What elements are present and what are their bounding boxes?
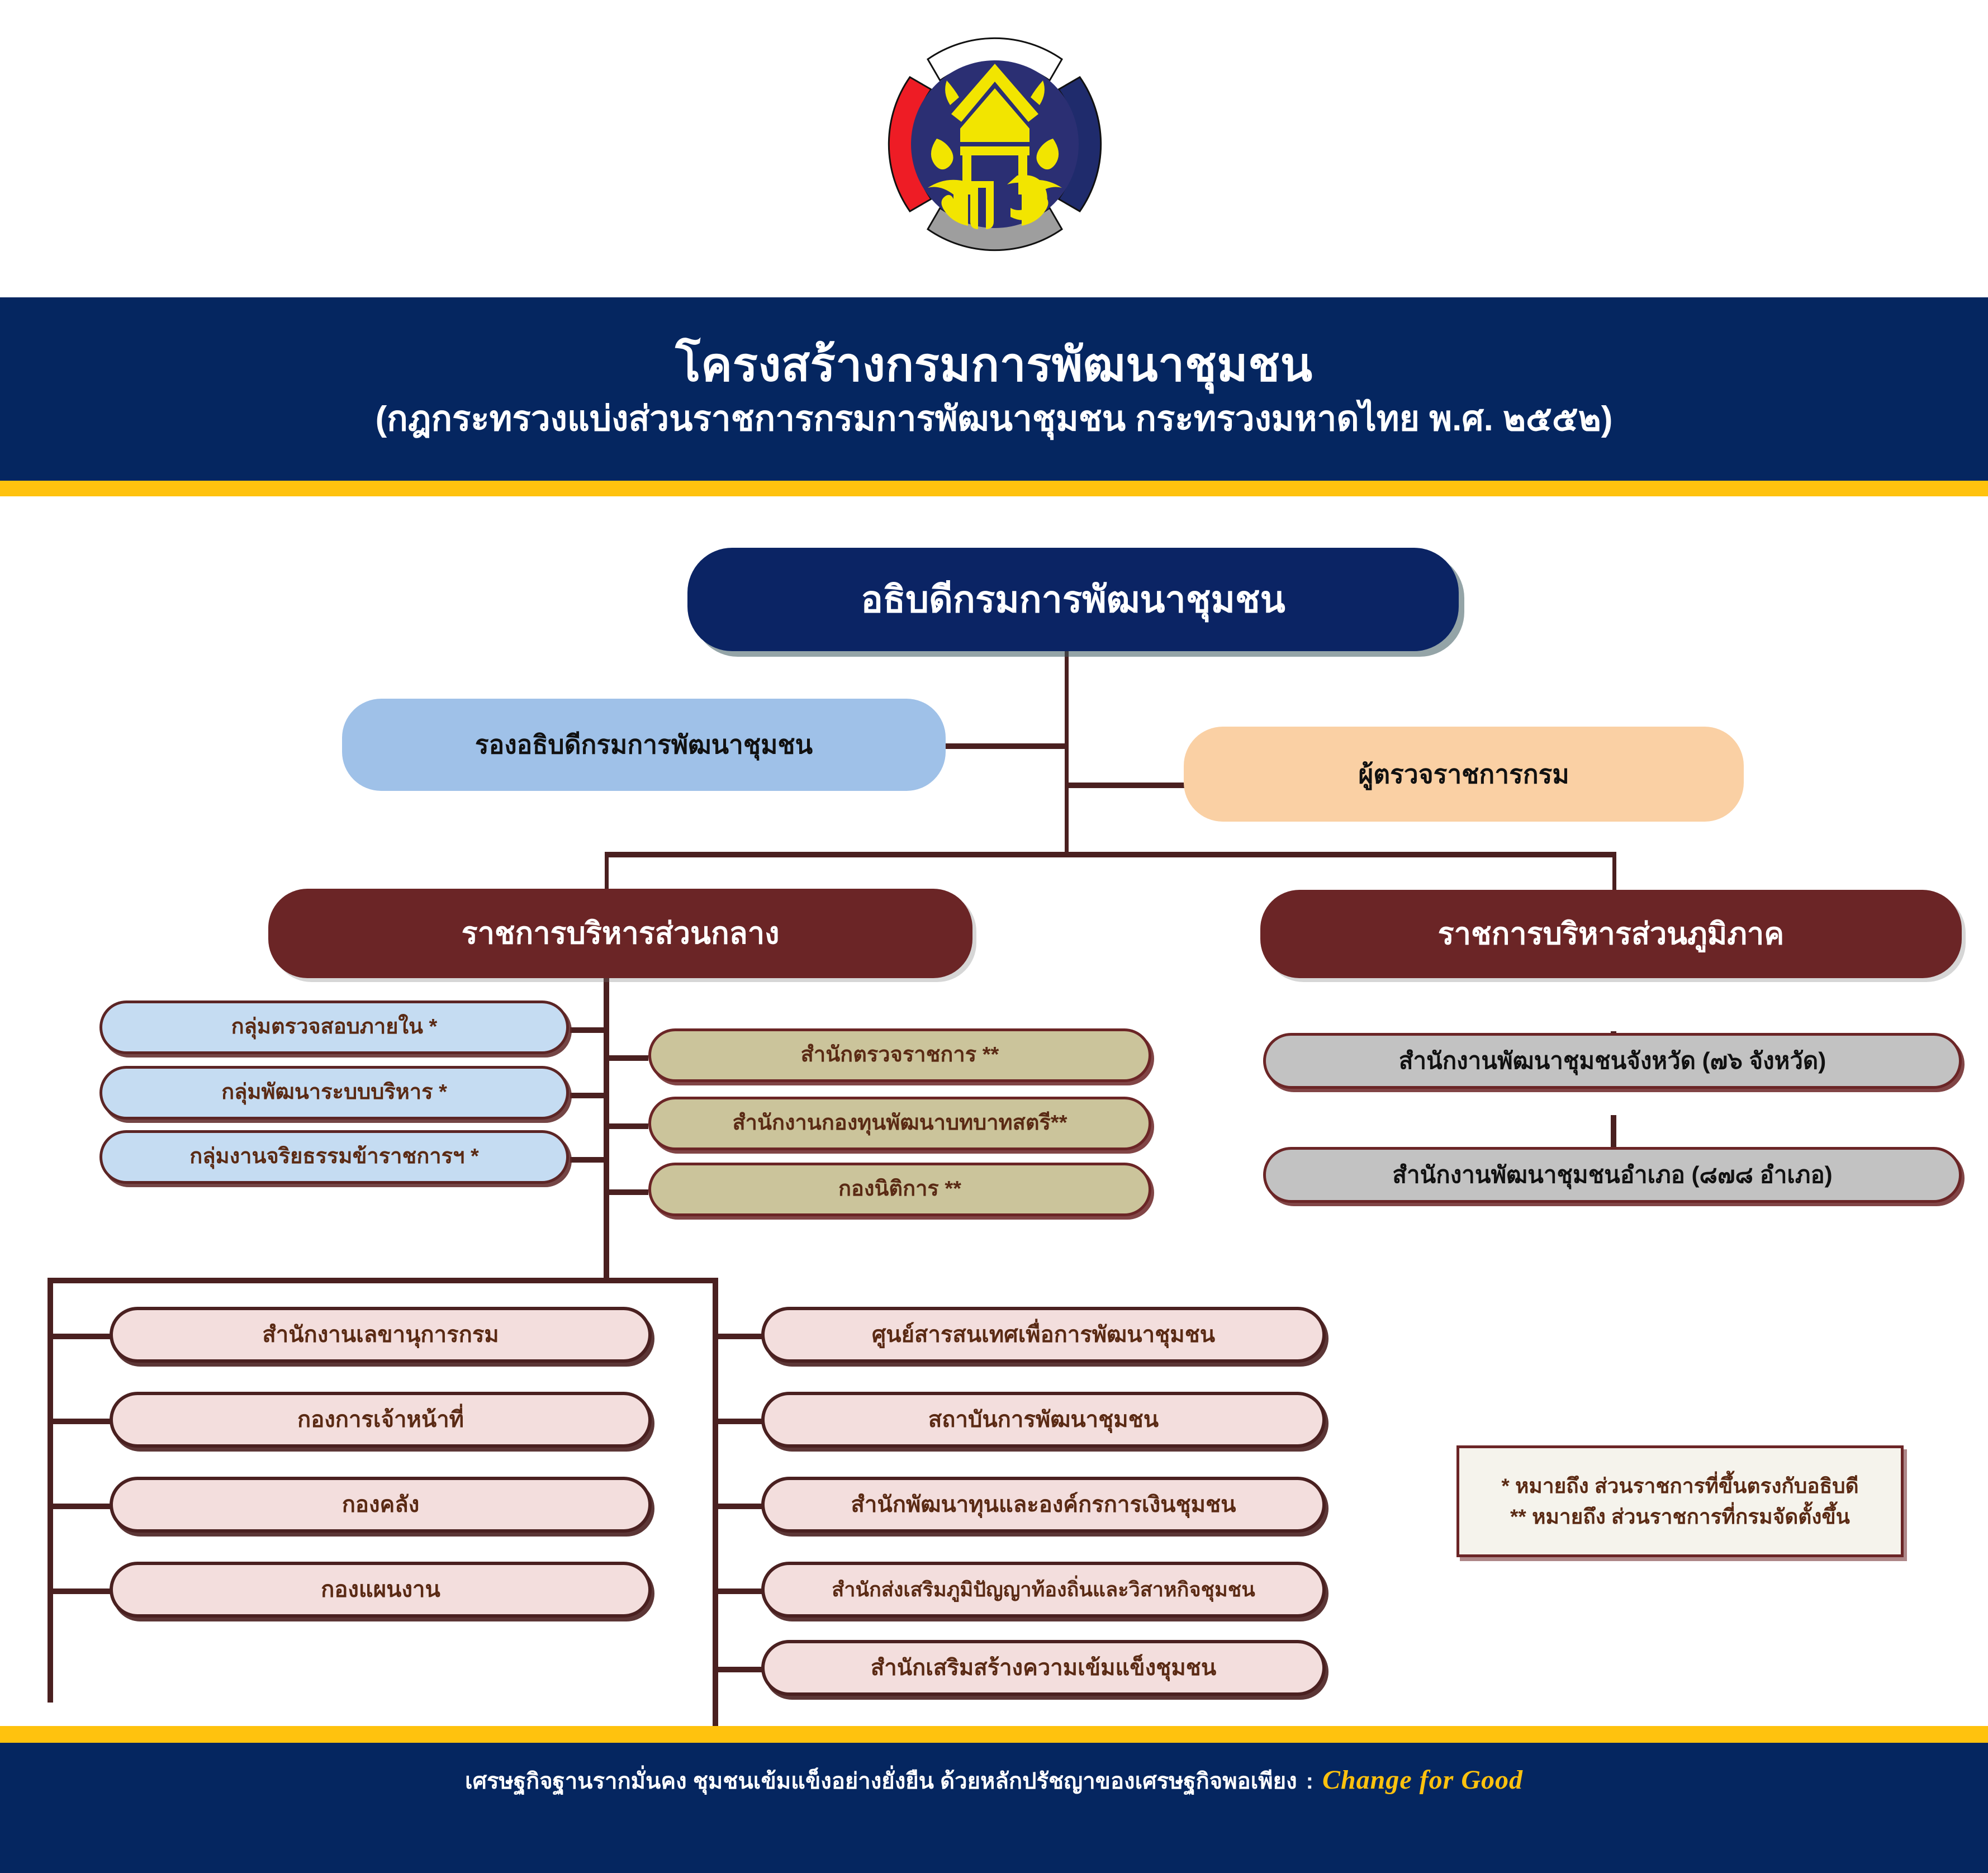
connector-stub-khaki-2 bbox=[604, 1123, 648, 1129]
node-label: กองคลัง bbox=[332, 1493, 430, 1516]
page-header-banner: โครงสร้างกรมการพัฒนาชุมชน (กฎกระทรวงแบ่ง… bbox=[0, 297, 1988, 481]
node-section-regional-administration[interactable]: ราชการบริหารส่วนภูมิภาค bbox=[1260, 890, 1962, 978]
node-community-strengthening-bureau[interactable]: สำนักเสริมสร้างความเข้มแข็งชุมชน bbox=[761, 1640, 1326, 1696]
node-department-inspector[interactable]: ผู้ตรวจราชการกรม bbox=[1184, 727, 1744, 822]
node-label: สำนักส่งเสริมภูมิปัญญาท้องถิ่นและวิสาหกิ… bbox=[822, 1579, 1265, 1600]
node-community-development-institute[interactable]: สถาบันการพัฒนาชุมชน bbox=[761, 1392, 1326, 1448]
node-local-wisdom-enterprise-bureau[interactable]: สำนักส่งเสริมภูมิปัญญาท้องถิ่นและวิสาหกิ… bbox=[761, 1562, 1326, 1618]
connector-stub-pinkL-4 bbox=[48, 1589, 115, 1594]
node-label: กองแผนงาน bbox=[311, 1578, 450, 1601]
node-label: สถาบันการพัฒนาชุมชน bbox=[918, 1408, 1169, 1431]
cdd-emblem-logo bbox=[861, 10, 1129, 278]
connector-central-rail bbox=[604, 975, 609, 1283]
node-label: กลุ่มตรวจสอบภายใน * bbox=[221, 1016, 448, 1039]
node-label: อธิบดีกรมการพัฒนาชุมชน bbox=[851, 580, 1296, 619]
connector-section-split bbox=[605, 852, 1616, 857]
node-provincial-cdd-office[interactable]: สำนักงานพัฒนาชุมชนจังหวัด (๗๖ จังหวัด) bbox=[1263, 1033, 1962, 1089]
node-finance-division[interactable]: กองคลัง bbox=[110, 1477, 652, 1533]
node-inspection-bureau[interactable]: สำนักตรวจราชการ ** bbox=[648, 1028, 1151, 1082]
node-label: กองนิติการ ** bbox=[828, 1178, 971, 1201]
node-label: กองการเจ้าหน้าที่ bbox=[287, 1408, 474, 1431]
node-district-cdd-office[interactable]: สำนักงานพัฒนาชุมชนอำเภอ (๘๗๘ อำเภอ) bbox=[1263, 1147, 1962, 1203]
legend-line-single-asterisk: * หมายถึง ส่วนราชการที่ขึ้นตรงกับอธิบดี bbox=[1501, 1471, 1858, 1502]
legend-box: * หมายถึง ส่วนราชการที่ขึ้นตรงกับอธิบดี … bbox=[1456, 1445, 1904, 1557]
page-subtitle: (กฎกระทรวงแบ่งส่วนราชการกรมการพัฒนาชุมชน… bbox=[376, 399, 1613, 440]
connector-stub-pinkR-4 bbox=[713, 1589, 766, 1594]
connector-stub-pinkL-2 bbox=[48, 1419, 115, 1424]
page-title: โครงสร้างกรมการพัฒนาชุมชน bbox=[675, 338, 1312, 391]
node-office-of-the-secretary[interactable]: สำนักงานเลขานุการกรม bbox=[110, 1307, 652, 1363]
node-label: สำนักตรวจราชการ ** bbox=[791, 1044, 1009, 1066]
node-director-general[interactable]: อธิบดีกรมการพัฒนาชุมชน bbox=[687, 548, 1459, 651]
connector-stub-blue-3 bbox=[570, 1157, 607, 1163]
connector-to-deputy bbox=[945, 743, 1067, 749]
node-planning-division[interactable]: กองแผนงาน bbox=[110, 1562, 652, 1618]
connector-bottom-left-rail bbox=[48, 1278, 53, 1703]
node-label: สำนักพัฒนาทุนและองค์กรการเงินชุมชน bbox=[841, 1493, 1246, 1516]
node-label: สำนักเสริมสร้างความเข้มแข็งชุมชน bbox=[861, 1656, 1226, 1680]
node-admin-system-development-group[interactable]: กลุ่มพัฒนาระบบบริหาร * bbox=[99, 1066, 569, 1120]
connector-stub-pinkR-2 bbox=[713, 1419, 766, 1424]
legend-line-double-asterisk: ** หมายถึง ส่วนราชการที่กรมจัดตั้งขึ้น bbox=[1510, 1501, 1850, 1533]
node-community-capital-finance-bureau[interactable]: สำนักพัฒนาทุนและองค์กรการเงินชุมชน bbox=[761, 1477, 1326, 1533]
footer-slogan: เศรษฐกิจฐานรากมั่นคง ชุมชนเข้มแข็งอย่างย… bbox=[465, 1763, 1297, 1799]
header-accent-bar bbox=[0, 481, 1988, 496]
node-label: สำนักงานพัฒนาชุมชนอำเภอ (๘๗๘ อำเภอ) bbox=[1382, 1163, 1842, 1187]
node-label: รองอธิบดีกรมการพัฒนาชุมชน bbox=[465, 731, 823, 758]
connector-stub-blue-1 bbox=[570, 1027, 607, 1033]
node-label: ราชการบริหารส่วนภูมิภาค bbox=[1428, 918, 1795, 950]
connector-stub-blue-2 bbox=[570, 1093, 607, 1098]
connector-down-to-sections bbox=[1065, 794, 1069, 855]
node-label: สำนักงานกองทุนพัฒนาบทบาทสตรี** bbox=[722, 1112, 1077, 1135]
node-community-development-information-center[interactable]: ศูนย์สารสนเทศเพื่อการพัฒนาชุมชน bbox=[761, 1307, 1326, 1363]
footer-separator: : bbox=[1306, 1769, 1313, 1794]
connector-to-inspector bbox=[1065, 783, 1188, 788]
org-chart-page: โครงสร้างกรมการพัฒนาชุมชน (กฎกระทรวงแบ่ง… bbox=[0, 0, 1988, 1873]
connector-stub-pinkR-3 bbox=[713, 1504, 766, 1509]
node-label: สำนักงานเลขานุการกรม bbox=[252, 1323, 509, 1346]
connector-root-down bbox=[1065, 648, 1069, 794]
node-deputy-director-general[interactable]: รองอธิบดีกรมการพัฒนาชุมชน bbox=[342, 699, 946, 791]
connector-stub-pinkL-3 bbox=[48, 1504, 115, 1509]
node-section-central-administration[interactable]: ราชการบริหารส่วนกลาง bbox=[268, 889, 972, 978]
node-label: ผู้ตรวจราชการกรม bbox=[1348, 761, 1579, 788]
connector-stub-pinkR-1 bbox=[713, 1334, 766, 1339]
node-label: ศูนย์สารสนเทศเพื่อการพัฒนาชุมชน bbox=[862, 1323, 1225, 1346]
node-internal-audit-group[interactable]: กลุ่มตรวจสอบภายใน * bbox=[99, 1000, 569, 1054]
node-legal-affairs-division[interactable]: กองนิติการ ** bbox=[648, 1163, 1151, 1216]
node-personnel-division[interactable]: กองการเจ้าหน้าที่ bbox=[110, 1392, 652, 1448]
page-footer: เศรษฐกิจฐานรากมั่นคง ชุมชนเข้มแข็งอย่างย… bbox=[0, 1743, 1988, 1873]
connector-stub-khaki-1 bbox=[604, 1055, 648, 1061]
node-label: กลุ่มพัฒนาระบบบริหาร * bbox=[211, 1082, 457, 1104]
connector-stub-pinkL-1 bbox=[48, 1334, 115, 1339]
node-womens-empowerment-fund-office[interactable]: สำนักงานกองทุนพัฒนาบทบาทสตรี** bbox=[648, 1097, 1151, 1150]
footer-brand: Change for Good bbox=[1322, 1765, 1523, 1795]
footer-accent-bar bbox=[0, 1726, 1988, 1743]
node-label: ราชการบริหารส่วนกลาง bbox=[452, 918, 790, 950]
node-label: กลุ่มงานจริยธรรมข้าราชการฯ * bbox=[179, 1146, 489, 1168]
connector-bottom-bracket-top bbox=[48, 1278, 718, 1283]
node-civil-servant-ethics-group[interactable]: กลุ่มงานจริยธรรมข้าราชการฯ * bbox=[99, 1130, 569, 1184]
connector-stub-khaki-3 bbox=[604, 1189, 648, 1195]
connector-stub-pinkR-5 bbox=[713, 1667, 766, 1672]
node-label: สำนักงานพัฒนาชุมชนจังหวัด (๗๖ จังหวัด) bbox=[1389, 1049, 1836, 1073]
